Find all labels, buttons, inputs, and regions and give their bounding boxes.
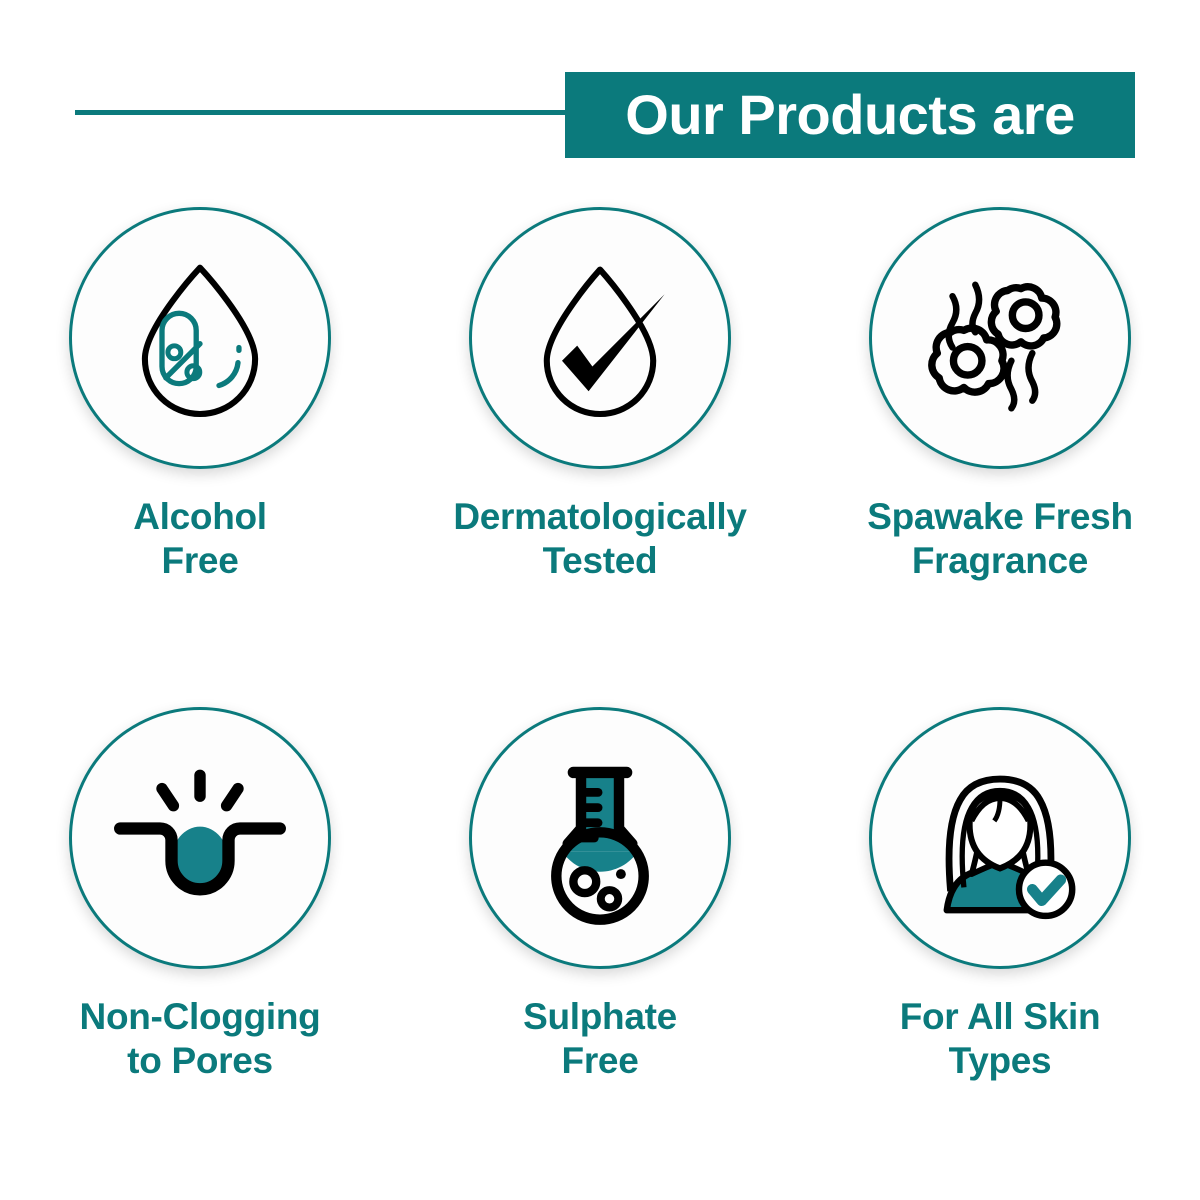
page-title: Our Products are — [625, 87, 1074, 143]
feature-badge — [69, 707, 331, 969]
feature-caption: Sulphate Free — [523, 995, 677, 1082]
feature-badge — [869, 707, 1131, 969]
header: Our Products are — [0, 0, 1200, 185]
sulphate-free-flask-icon — [505, 743, 695, 933]
feature-item-all-skin-types: For All Skin Types — [800, 685, 1200, 1185]
all-skin-types-woman-check-icon — [905, 743, 1095, 933]
feature-badge — [469, 207, 731, 469]
non-clogging-pore-icon — [105, 743, 295, 933]
caption-line-2: Free — [133, 539, 267, 583]
feature-item-alcohol-free: Alcohol Free — [0, 185, 400, 685]
feature-item-non-clogging: Non-Clogging to Pores — [0, 685, 400, 1185]
alcohol-free-droplet-percent-icon — [105, 243, 295, 433]
header-rule — [75, 110, 570, 115]
caption-line-1: Sulphate — [523, 996, 677, 1037]
caption-line-1: Alcohol — [133, 496, 267, 537]
dermatologically-tested-droplet-check-icon — [505, 243, 695, 433]
feature-badge — [869, 207, 1131, 469]
feature-badge — [469, 707, 731, 969]
caption-line-2: Fragrance — [867, 539, 1133, 583]
product-claims-infographic: Our Products are Alcohol Free — [0, 0, 1200, 1200]
feature-caption: Alcohol Free — [133, 495, 267, 582]
caption-line-2: Free — [523, 1039, 677, 1083]
feature-grid: Alcohol Free Dermatologically Tested — [0, 185, 1200, 1200]
feature-item-dermatologically-tested: Dermatologically Tested — [400, 185, 800, 685]
feature-item-sulphate-free: Sulphate Free — [400, 685, 800, 1185]
caption-line-2: Tested — [453, 539, 746, 583]
caption-line-1: Spawake Fresh — [867, 496, 1133, 537]
feature-badge — [69, 207, 331, 469]
feature-caption: Non-Clogging to Pores — [80, 995, 321, 1082]
fresh-fragrance-flowers-icon — [905, 243, 1095, 433]
feature-caption: Spawake Fresh Fragrance — [867, 495, 1133, 582]
caption-line-1: Non-Clogging — [80, 996, 321, 1037]
caption-line-1: For All Skin — [900, 996, 1101, 1037]
feature-caption: For All Skin Types — [900, 995, 1101, 1082]
header-banner: Our Products are — [565, 72, 1135, 158]
feature-caption: Dermatologically Tested — [453, 495, 746, 582]
caption-line-2: Types — [900, 1039, 1101, 1083]
feature-item-fresh-fragrance: Spawake Fresh Fragrance — [800, 185, 1200, 685]
caption-line-2: to Pores — [80, 1039, 321, 1083]
caption-line-1: Dermatologically — [453, 496, 746, 537]
